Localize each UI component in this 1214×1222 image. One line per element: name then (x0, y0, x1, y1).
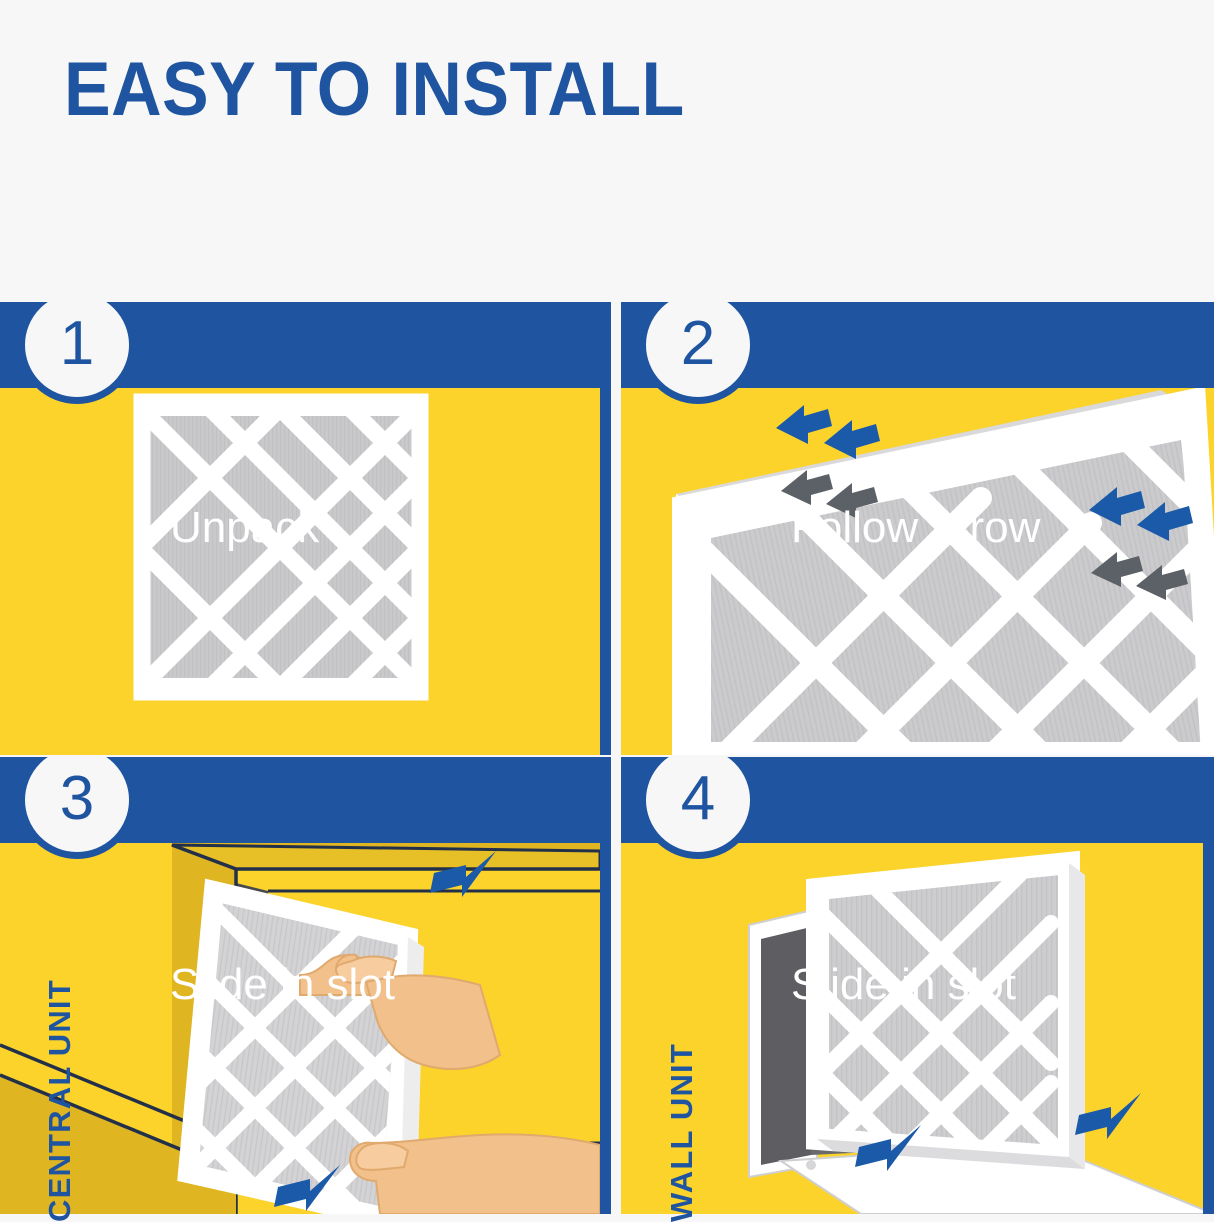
tilted-air-filter-graphic (621, 388, 1214, 755)
step-3-label: Slide in slot (170, 962, 395, 1008)
step-2-illustration-area (621, 388, 1214, 755)
step-panel-1: 1 Unpack (0, 302, 600, 755)
step-3-illustration-area (0, 843, 600, 1214)
page-title: EASY TO INSTALL (64, 52, 685, 128)
step-1-illustration-area (0, 388, 600, 755)
wall-unit-install-graphic (621, 843, 1214, 1214)
step-panel-3: 3 Slide in slot (0, 757, 600, 1214)
central-unit-install-graphic (0, 843, 600, 1214)
step-4-number: 4 (646, 768, 750, 830)
panel-divider-vertical-bottom (600, 757, 611, 1214)
step-4-illustration-area (621, 843, 1214, 1214)
hand-lower (350, 1134, 600, 1214)
step-1-label: Unpack (170, 505, 319, 551)
step-panel-4: 4 Slide in slot (621, 757, 1214, 1214)
infographic-canvas: EASY TO INSTALL (0, 0, 1214, 1214)
step-3-number: 3 (25, 768, 129, 830)
panel-border-right (1203, 757, 1214, 1214)
step-1-number: 1 (25, 313, 129, 375)
step-2-number: 2 (646, 313, 750, 375)
panel-divider-vertical-top (600, 302, 611, 755)
step-2-label: Follow arrow (791, 505, 1040, 551)
step-panel-2: 2 Follow arrow (621, 302, 1214, 755)
step-3-side-caption: CENTRAL UNIT (42, 979, 78, 1222)
flat-air-filter-graphic (0, 388, 600, 755)
step-4-side-caption: WALL UNIT (664, 1043, 700, 1222)
airflow-arrow-blue-left (776, 405, 880, 459)
step-4-label: Slide in slot (791, 962, 1016, 1008)
